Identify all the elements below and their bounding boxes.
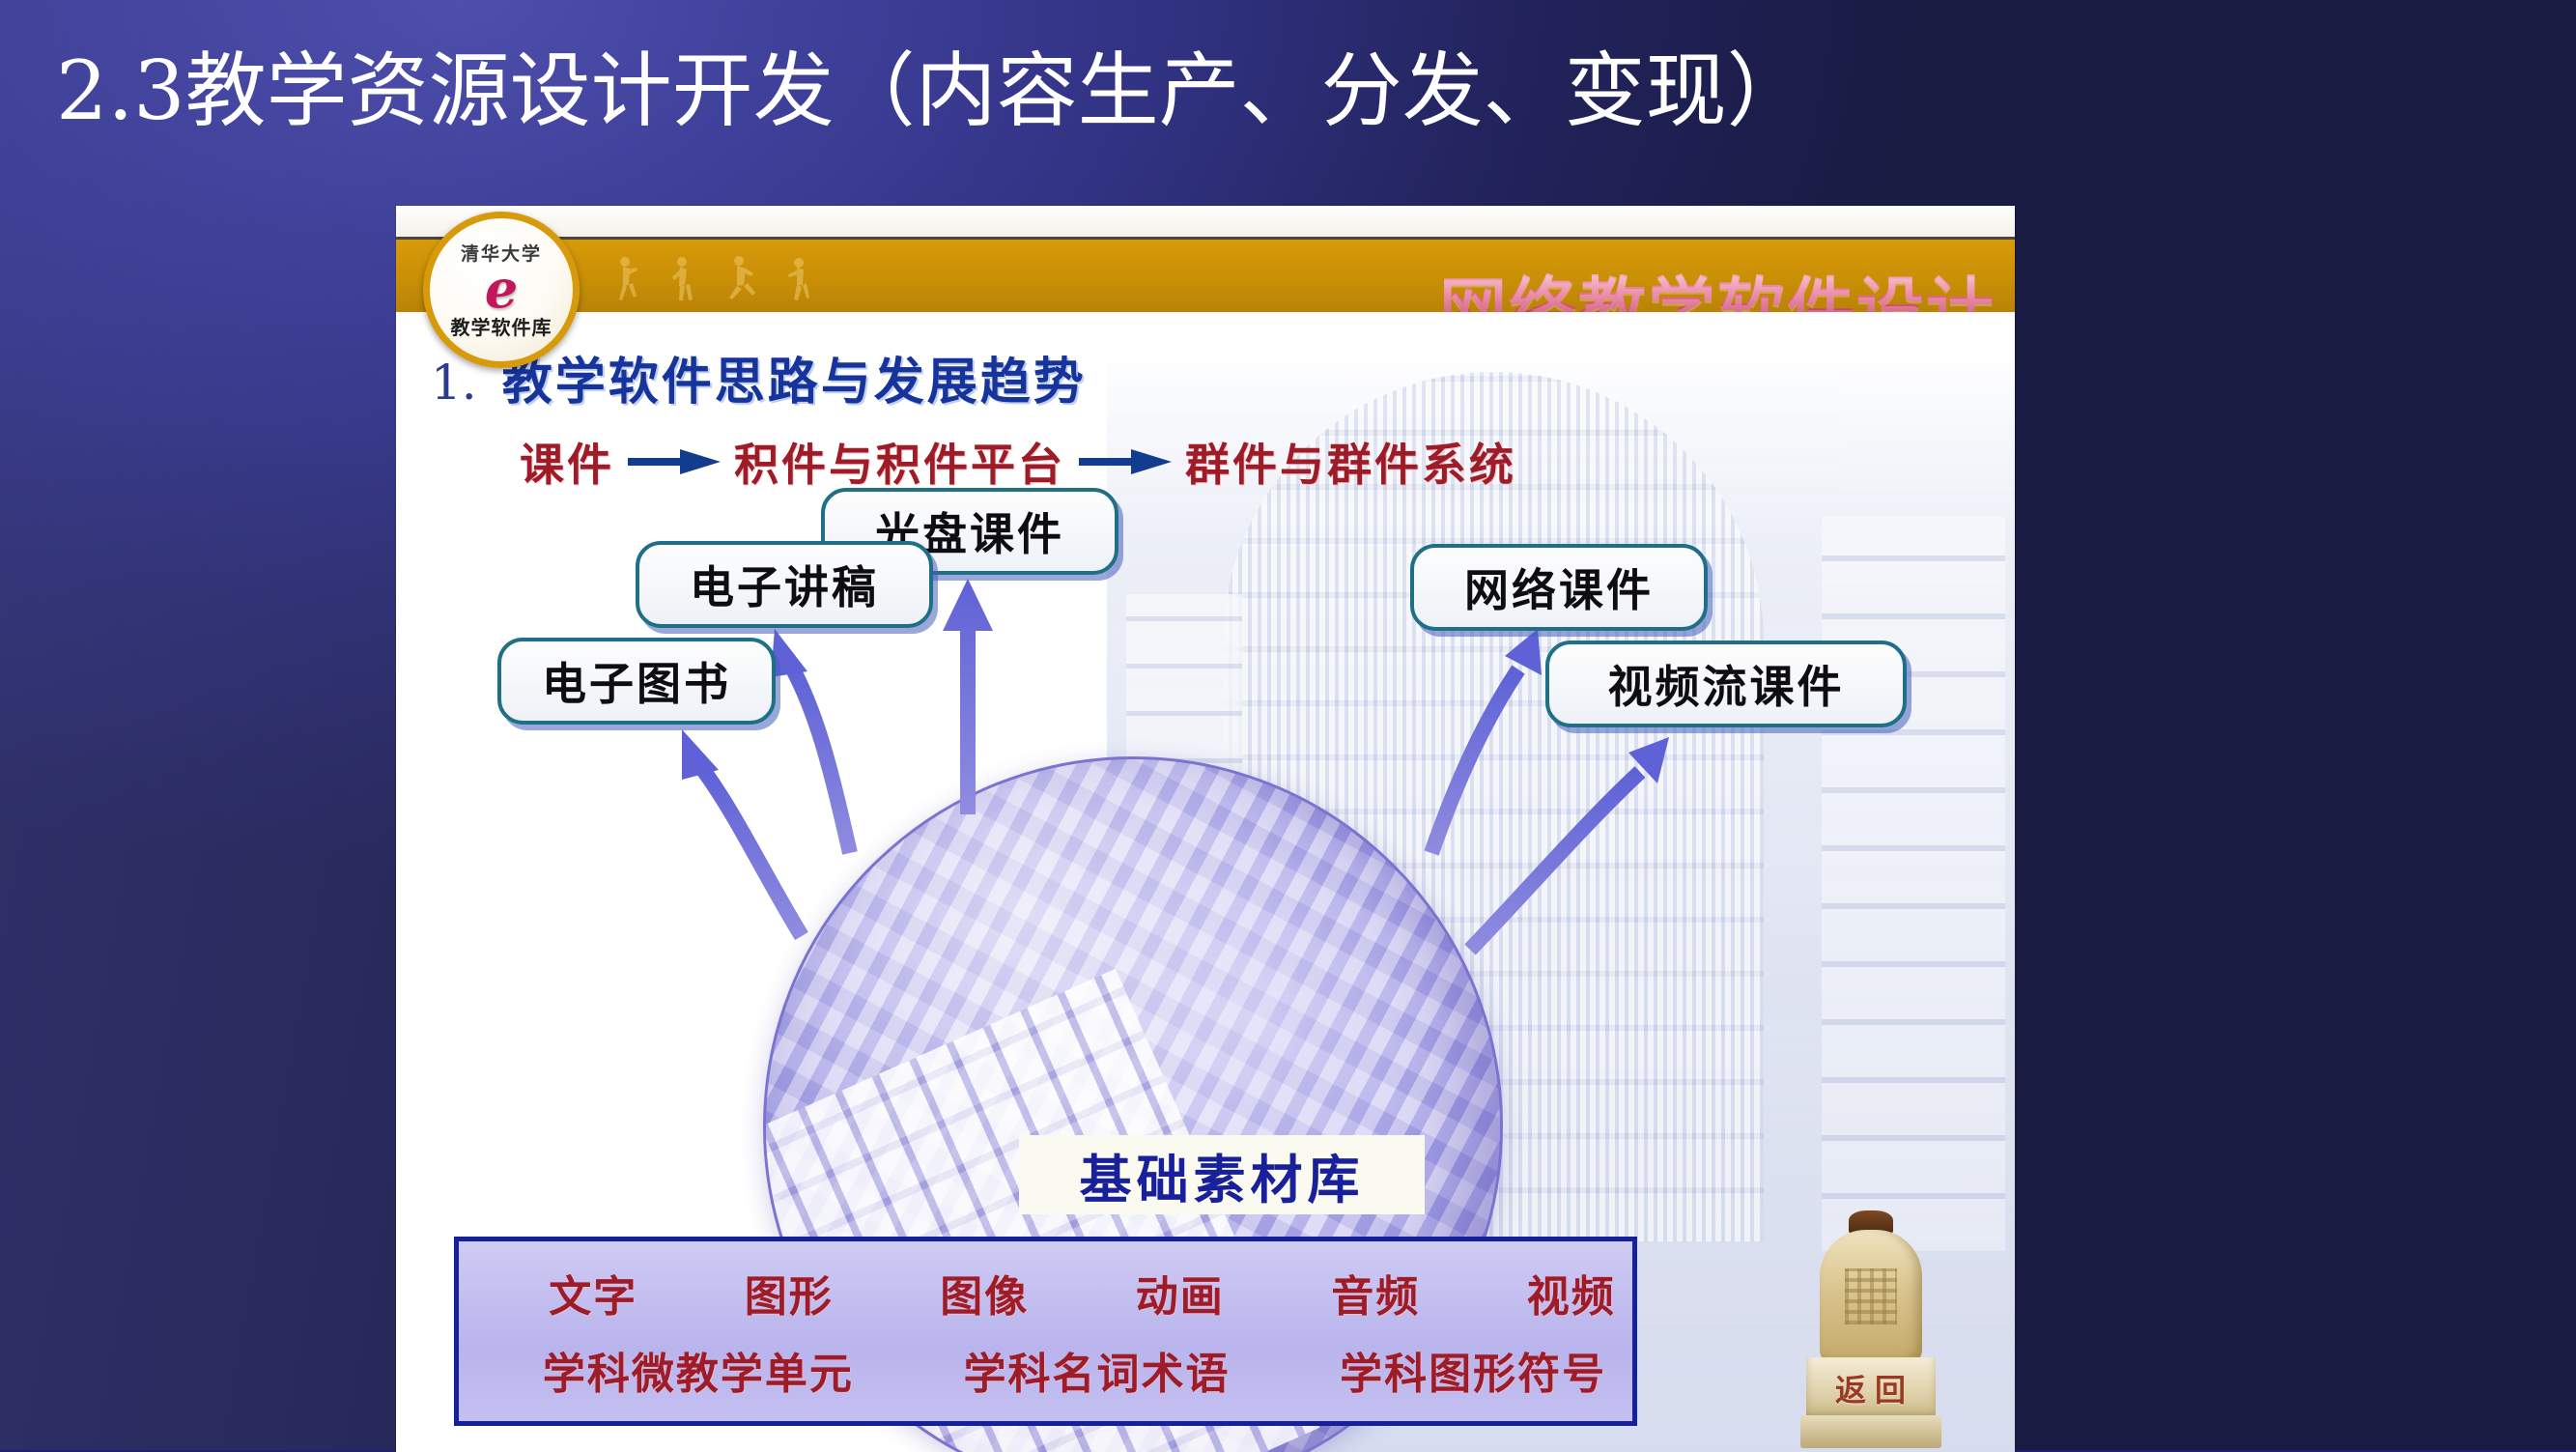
- material-cell: 图形: [745, 1262, 834, 1324]
- material-types-table: 文字 图形 图像 动画 音频 视频 学科微教学单元 学科名词术语 学科图形符号: [454, 1237, 1637, 1426]
- seal-base: [1800, 1415, 1941, 1448]
- presentation-slide-canvas: 2.3教学资源设计开发（内容生产、分发、变现） 网络教学软件设计 清: [0, 0, 2576, 1450]
- page-title: 2.3教学资源设计开发（内容生产、分发、变现）: [56, 43, 2529, 139]
- logo-e-mark-icon: e: [485, 266, 518, 312]
- diagram-box-shipinliu-kejian[interactable]: 视频流课件: [1545, 641, 1907, 727]
- base-material-library-label: 基础素材库: [1019, 1135, 1425, 1214]
- material-table-row-1: 文字 图形 图像 动画 音频 视频: [459, 1262, 1706, 1324]
- arrow-to-wangluo: [1431, 629, 1542, 853]
- material-cell: 学科图形符号: [1340, 1339, 1606, 1401]
- arrow-to-guangpan: [943, 579, 993, 814]
- runner-icon: [782, 255, 815, 312]
- arrow-to-dianzijiangao: [771, 629, 850, 853]
- slide-header-title: 网络教学软件设计: [1439, 267, 1996, 312]
- material-cell: 图像: [940, 1262, 1029, 1324]
- seal-plinth: 返 回: [1806, 1357, 1936, 1419]
- seal-body: [1820, 1230, 1922, 1365]
- runner-icon: [724, 255, 757, 312]
- seal-carving-texture: [1845, 1268, 1897, 1324]
- return-label-char-2: 回: [1875, 1366, 1907, 1410]
- embedded-slide-image: 网络教学软件设计 清华大学 e 教学软件库 1. 教学软件思路与发展趋势 课件 …: [396, 206, 2015, 1452]
- runner-icon: [609, 255, 641, 312]
- return-button[interactable]: 返 回: [1798, 1210, 1943, 1452]
- return-label-char-1: 返: [1835, 1366, 1867, 1410]
- material-cell: 视频: [1527, 1262, 1616, 1324]
- material-cell: 文字: [549, 1262, 637, 1324]
- slide-header-bar: 网络教学软件设计: [396, 237, 2015, 312]
- diagram-box-wangluo-kejian[interactable]: 网络课件: [1410, 544, 1708, 631]
- diagram-box-dianzi-jianggao[interactable]: 电子讲稿: [636, 541, 933, 628]
- panel-top-stripe: [396, 206, 2015, 237]
- material-cell: 音频: [1331, 1262, 1420, 1324]
- material-table-row-2: 学科微教学单元 学科名词术语 学科图形符号: [459, 1339, 1690, 1401]
- material-cell: 学科名词术语: [963, 1339, 1230, 1401]
- arrow-to-dianzitushu: [682, 729, 802, 936]
- runner-icon: [666, 255, 699, 312]
- diagram-box-dianzi-tushu[interactable]: 电子图书: [497, 638, 776, 725]
- material-cell: 动画: [1136, 1262, 1225, 1324]
- arrow-to-shipinliu: [1470, 737, 1669, 950]
- material-cell: 学科微教学单元: [543, 1339, 854, 1401]
